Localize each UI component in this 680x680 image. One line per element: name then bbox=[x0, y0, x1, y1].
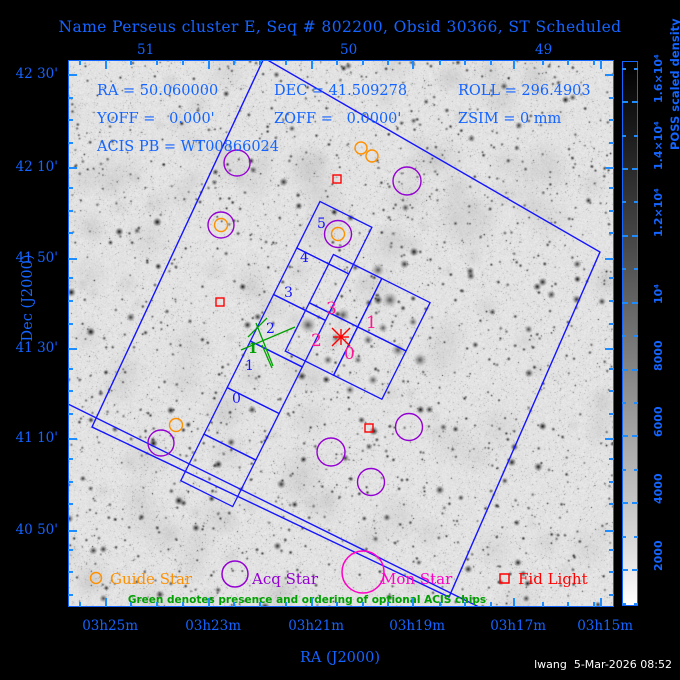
axis-tick bbox=[609, 187, 614, 189]
axis-tick bbox=[567, 60, 569, 65]
axis-tick bbox=[412, 60, 414, 69]
axis-tick bbox=[605, 348, 614, 350]
colorbar-tick-label-1: 4000 bbox=[652, 474, 665, 505]
colorbar-tick-label-3: 8000 bbox=[652, 340, 665, 371]
x-tick-label-3: 03h19m bbox=[389, 618, 445, 634]
axis-tick bbox=[593, 602, 595, 607]
axis-tick bbox=[68, 187, 73, 189]
axis-tick bbox=[68, 368, 73, 370]
axis-tick bbox=[609, 594, 614, 596]
axis-tick bbox=[79, 602, 81, 607]
colorbar-tick-label-2: 6000 bbox=[652, 407, 665, 438]
axis-tick bbox=[387, 602, 389, 607]
colorbar-tick bbox=[622, 101, 628, 103]
y-tick-label-4: 41 10' bbox=[16, 430, 58, 446]
axis-tick bbox=[622, 469, 626, 471]
colorbar-tick bbox=[632, 235, 638, 237]
axis-tick bbox=[68, 503, 73, 505]
axis-tick bbox=[567, 602, 569, 607]
axis-tick bbox=[609, 300, 614, 302]
axis-tick bbox=[362, 60, 364, 65]
axis-tick bbox=[68, 119, 73, 121]
axis-tick bbox=[609, 277, 614, 279]
legend-guide-star-icon bbox=[91, 573, 102, 584]
axis-tick bbox=[412, 598, 414, 607]
x-tick-label-0: 03h25m bbox=[82, 618, 138, 634]
axis-tick bbox=[68, 210, 73, 212]
colorbar-tick bbox=[632, 569, 638, 571]
footer-credit: lwang 5-Mar-2026 08:52 bbox=[534, 658, 672, 671]
axis-tick bbox=[622, 268, 626, 270]
axis-tick bbox=[182, 60, 184, 65]
axis-tick bbox=[156, 60, 158, 65]
axis-tick bbox=[130, 60, 132, 65]
axis-tick bbox=[336, 60, 338, 65]
axis-tick bbox=[634, 268, 638, 270]
axis-tick bbox=[609, 232, 614, 234]
y-axis-label: Dec (J2000) bbox=[20, 208, 36, 388]
colorbar-tick bbox=[622, 302, 628, 304]
axis-tick bbox=[609, 481, 614, 483]
axis-tick bbox=[208, 598, 210, 607]
axis-tick bbox=[68, 74, 77, 76]
colorbar-tick bbox=[632, 369, 638, 371]
axis-tick bbox=[68, 594, 73, 596]
axis-tick bbox=[68, 323, 73, 325]
axis-tick bbox=[609, 323, 614, 325]
axis-tick bbox=[68, 438, 77, 440]
axis-tick bbox=[600, 60, 602, 69]
axis-tick bbox=[68, 481, 73, 483]
axis-tick bbox=[68, 549, 73, 551]
legend-fid-light-label: Fid Light bbox=[518, 570, 588, 588]
y-tick-label-3: 41 30' bbox=[16, 340, 58, 356]
axis-tick bbox=[105, 598, 107, 607]
colorbar-tick bbox=[622, 502, 628, 504]
axis-tick bbox=[542, 60, 544, 65]
axis-tick bbox=[387, 60, 389, 65]
axis-tick bbox=[490, 60, 492, 65]
axis-tick bbox=[68, 571, 73, 573]
axis-tick bbox=[311, 60, 313, 69]
axis-tick bbox=[208, 60, 210, 69]
colorbar-tick-label-0: 2000 bbox=[652, 541, 665, 572]
x-tick-label-2: 03h21m bbox=[288, 618, 344, 634]
colorbar-tick bbox=[622, 369, 628, 371]
colorbar-title: POSS scaled density bbox=[668, 18, 680, 150]
axis-tick bbox=[130, 602, 132, 607]
legend-green-note: Green denotes presence and ordering of o… bbox=[0, 594, 614, 606]
colorbar-tick bbox=[632, 435, 638, 437]
axis-tick bbox=[609, 571, 614, 573]
axis-tick bbox=[68, 277, 73, 279]
axis-tick bbox=[68, 530, 77, 532]
axis-tick bbox=[609, 413, 614, 415]
x-tick-label-5: 03h15m bbox=[577, 618, 633, 634]
legend-acq-star-icon bbox=[222, 561, 248, 587]
colorbar-tick bbox=[632, 168, 638, 170]
axis-tick bbox=[605, 530, 614, 532]
axis-tick bbox=[634, 135, 638, 137]
axis-tick bbox=[634, 201, 638, 203]
axis-tick bbox=[600, 598, 602, 607]
colorbar-tick bbox=[622, 569, 628, 571]
axis-tick bbox=[634, 335, 638, 337]
axis-tick bbox=[605, 74, 614, 76]
axis-tick bbox=[490, 602, 492, 607]
colorbar-tick-label-7: 1.6×10⁴ bbox=[652, 54, 665, 103]
axis-tick bbox=[609, 97, 614, 99]
axis-tick bbox=[622, 135, 626, 137]
axis-tick bbox=[542, 602, 544, 607]
legend-mon-star-icon bbox=[342, 551, 384, 593]
axis-tick bbox=[622, 335, 626, 337]
x-top-tick-label-2: 49 bbox=[535, 42, 552, 58]
axis-tick bbox=[634, 603, 638, 605]
axis-tick bbox=[605, 167, 614, 169]
legend-acq-star-label: Acq Star bbox=[252, 570, 318, 588]
axis-tick bbox=[634, 536, 638, 538]
axis-tick bbox=[634, 469, 638, 471]
axis-tick bbox=[439, 60, 441, 65]
x-top-tick-label-1: 50 bbox=[340, 42, 357, 58]
axis-tick bbox=[634, 68, 638, 70]
y-tick-label-5: 40 50' bbox=[16, 522, 58, 538]
colorbar-tick-label-5: 1.2×10⁴ bbox=[652, 188, 665, 237]
legend-guide-star-label: Guide Star bbox=[110, 570, 192, 588]
axis-tick bbox=[285, 602, 287, 607]
axis-tick bbox=[605, 258, 614, 260]
axis-tick bbox=[622, 603, 626, 605]
axis-tick bbox=[68, 97, 73, 99]
axis-tick bbox=[68, 142, 73, 144]
axis-tick bbox=[156, 602, 158, 607]
axis-tick bbox=[68, 300, 73, 302]
y-tick-label-0: 42 30' bbox=[16, 66, 58, 82]
axis-tick bbox=[68, 390, 73, 392]
x-top-tick-label-0: 51 bbox=[137, 42, 154, 58]
axis-tick bbox=[233, 602, 235, 607]
axis-tick bbox=[79, 60, 81, 65]
axis-tick bbox=[68, 458, 73, 460]
axis-tick bbox=[259, 602, 261, 607]
axis-tick bbox=[622, 68, 626, 70]
axis-tick bbox=[609, 549, 614, 551]
axis-tick bbox=[605, 438, 614, 440]
colorbar-tick bbox=[622, 235, 628, 237]
axis-tick bbox=[362, 602, 364, 607]
axis-tick bbox=[609, 210, 614, 212]
colorbar-tick-label-4: 10⁴ bbox=[652, 284, 665, 304]
axis-tick bbox=[609, 458, 614, 460]
colorbar-tick bbox=[632, 302, 638, 304]
colorbar-tick-label-6: 1.4×10⁴ bbox=[652, 121, 665, 170]
x-tick-label-1: 03h23m bbox=[185, 618, 241, 634]
x-tick-label-4: 03h17m bbox=[490, 618, 546, 634]
axis-tick bbox=[68, 348, 77, 350]
axis-tick bbox=[634, 402, 638, 404]
axis-tick bbox=[622, 536, 626, 538]
axis-tick bbox=[609, 390, 614, 392]
axis-tick bbox=[259, 60, 261, 65]
axis-tick bbox=[311, 598, 313, 607]
axis-tick bbox=[68, 167, 77, 169]
axis-tick bbox=[609, 119, 614, 121]
axis-tick bbox=[609, 142, 614, 144]
axis-tick bbox=[105, 60, 107, 69]
colorbar-tick bbox=[632, 101, 638, 103]
axis-tick bbox=[464, 602, 466, 607]
colorbar bbox=[622, 61, 638, 606]
axis-tick bbox=[439, 602, 441, 607]
starcheck-plot-window: Name Perseus cluster E, Seq # 802200, Ob… bbox=[0, 0, 680, 680]
legend-mon-star-label: Mon Star bbox=[381, 570, 452, 588]
colorbar-tick bbox=[622, 435, 628, 437]
axis-tick bbox=[622, 402, 626, 404]
y-tick-label-1: 42 10' bbox=[16, 159, 58, 175]
axis-tick bbox=[513, 598, 515, 607]
axis-tick bbox=[68, 232, 73, 234]
axis-tick bbox=[513, 60, 515, 69]
axis-tick bbox=[622, 201, 626, 203]
legend-fid-light-icon bbox=[500, 574, 509, 583]
colorbar-tick bbox=[622, 168, 628, 170]
axis-tick bbox=[182, 602, 184, 607]
axis-tick bbox=[464, 60, 466, 65]
axis-tick bbox=[68, 258, 77, 260]
axis-tick bbox=[609, 503, 614, 505]
colorbar-tick bbox=[632, 502, 638, 504]
axis-tick bbox=[336, 602, 338, 607]
y-tick-label-2: 41 50' bbox=[16, 250, 58, 266]
axis-tick bbox=[609, 368, 614, 370]
axis-tick bbox=[233, 60, 235, 65]
axis-tick bbox=[285, 60, 287, 65]
axis-tick bbox=[593, 60, 595, 65]
axis-tick bbox=[68, 413, 73, 415]
